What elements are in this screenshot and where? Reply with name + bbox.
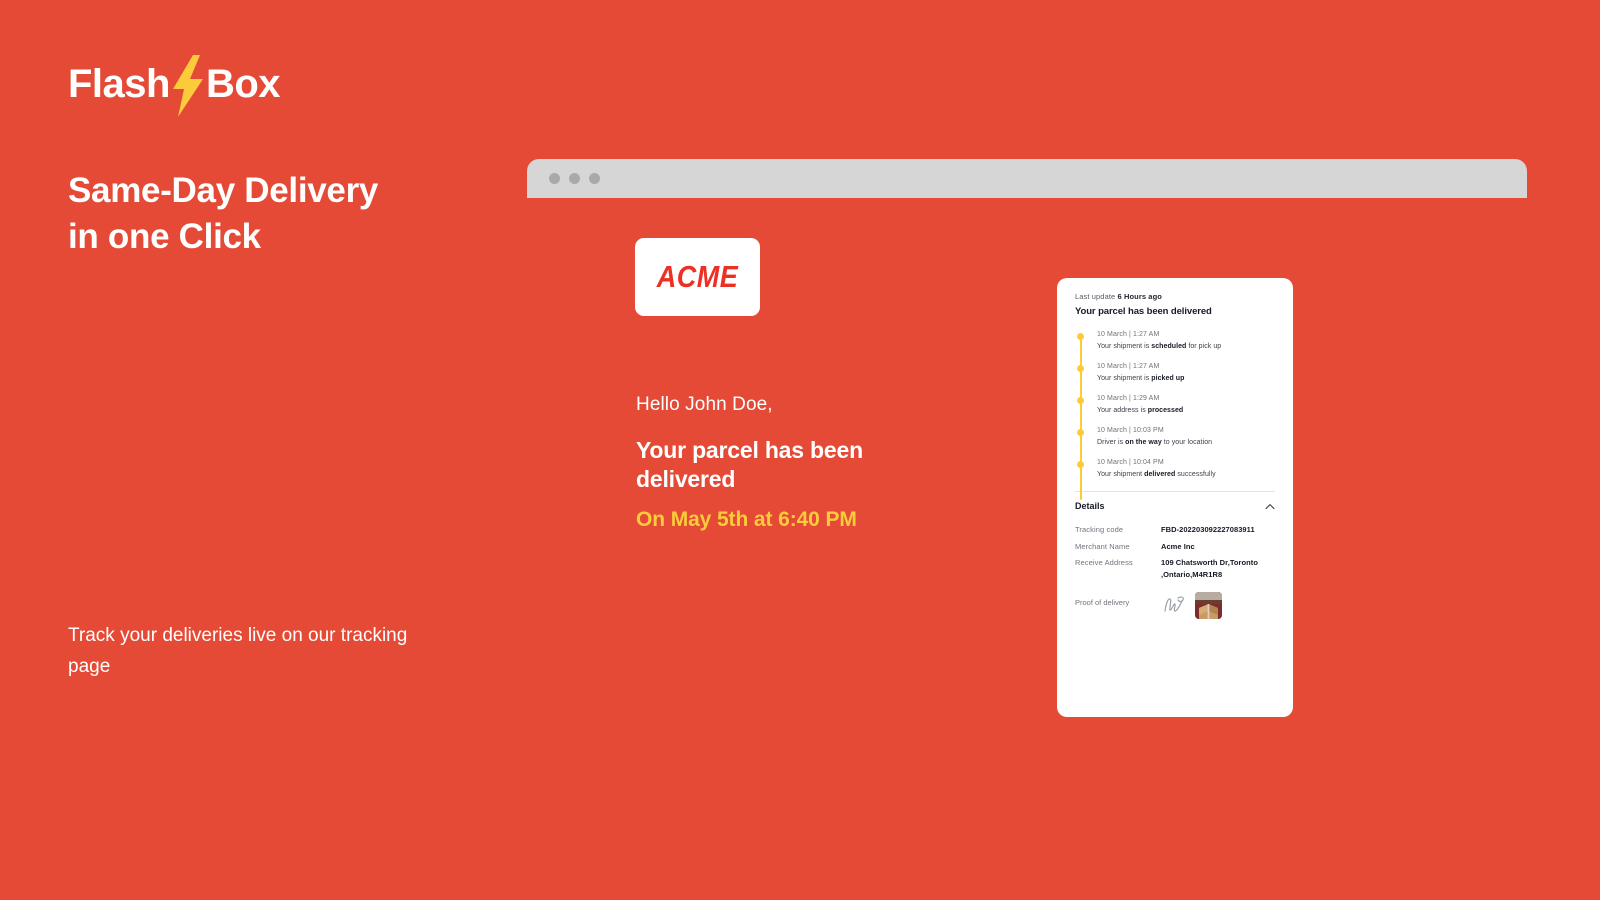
- timeline-dot-icon: [1077, 365, 1084, 372]
- parcel-photo-thumbnail[interactable]: [1195, 592, 1222, 619]
- timeline-desc-bold: scheduled: [1151, 343, 1186, 350]
- timeline-item-description: Your address is processed: [1097, 406, 1275, 417]
- timeline-item-time: 10 March | 10:04 PM: [1097, 459, 1275, 466]
- detail-row: Tracking code FBD-202203092227083911: [1075, 524, 1275, 536]
- signature-icon[interactable]: [1161, 592, 1187, 618]
- timeline-desc-before: Your address is: [1097, 407, 1148, 414]
- window-maximize-dot-icon[interactable]: [589, 173, 600, 184]
- timeline-desc-before: Driver is: [1097, 439, 1125, 446]
- email-delivery-time: On May 5th at 6:40 PM: [636, 508, 966, 532]
- timeline-item: 10 March | 1:29 AM Your address is proce…: [1097, 395, 1275, 416]
- tracking-card-title: Your parcel has been delivered: [1075, 306, 1275, 317]
- last-update-line: Last update 6 Hours ago: [1075, 292, 1275, 301]
- detail-value-tracking-code: FBD-202203092227083911: [1161, 524, 1255, 536]
- browser-titlebar: [527, 159, 1527, 198]
- timeline-desc-before: Your shipment is: [1097, 375, 1151, 382]
- email-headline: Your parcel has been delivered: [636, 436, 966, 494]
- detail-label: Tracking code: [1075, 524, 1161, 536]
- detail-row: Merchant Name Acme Inc: [1075, 541, 1275, 553]
- timeline-item: 10 March | 1:27 AM Your shipment is pick…: [1097, 363, 1275, 384]
- timeline-item-time: 10 March | 1:27 AM: [1097, 331, 1275, 338]
- brand-logo-text-flash: Flash: [68, 64, 170, 104]
- merchant-logo-card: ACME: [635, 238, 760, 316]
- timeline-desc-after: to your location: [1162, 439, 1212, 446]
- timeline-item-time: 10 March | 10:03 PM: [1097, 427, 1275, 434]
- timeline-item-time: 10 March | 1:27 AM: [1097, 363, 1275, 370]
- timeline-item-description: Your shipment is picked up: [1097, 374, 1275, 385]
- hero-subtext: Track your deliveries live on our tracki…: [68, 620, 448, 683]
- detail-value-merchant-name: Acme Inc: [1161, 541, 1195, 553]
- timeline-desc-before: Your shipment is: [1097, 343, 1151, 350]
- detail-label: Merchant Name: [1075, 541, 1161, 553]
- proof-of-delivery-row: Proof of delivery: [1075, 592, 1275, 619]
- timeline-item-description: Driver is on the way to your location: [1097, 438, 1275, 449]
- timeline-item-time: 10 March | 1:29 AM: [1097, 395, 1275, 402]
- timeline-dot-icon: [1077, 397, 1084, 404]
- lightning-bolt-icon: [171, 55, 205, 117]
- brand-logo-text-box: Box: [206, 64, 280, 104]
- page-title: Same-Day Delivery in one Click: [68, 168, 498, 259]
- brand-logo[interactable]: Flash Box: [68, 56, 280, 112]
- timeline-desc-bold: picked up: [1151, 375, 1184, 382]
- email-message-block: Hello John Doe, Your parcel has been del…: [636, 394, 966, 532]
- timeline-desc-bold: delivered: [1144, 471, 1175, 478]
- timeline-rail: [1080, 336, 1082, 500]
- tracking-status-card: Last update 6 Hours ago Your parcel has …: [1057, 278, 1293, 717]
- timeline-item: 10 March | 1:27 AM Your shipment is sche…: [1097, 331, 1275, 352]
- timeline-desc-after: for pick up: [1186, 343, 1221, 350]
- detail-value-receive-address: 109 Chatsworth Dr,Toronto ,Ontario,M4R1R…: [1161, 557, 1275, 580]
- timeline-dot-icon: [1077, 461, 1084, 468]
- shipment-timeline: 10 March | 1:27 AM Your shipment is sche…: [1075, 331, 1275, 480]
- email-greeting: Hello John Doe,: [636, 394, 966, 416]
- browser-window-mockup: ACME Hello John Doe, Your parcel has bee…: [527, 159, 1527, 721]
- acme-logo-text: ACME: [657, 260, 739, 295]
- timeline-item-description: Your shipment is scheduled for pick up: [1097, 342, 1275, 353]
- proof-of-delivery-label: Proof of delivery: [1075, 592, 1161, 607]
- headline-line-1: Same-Day Delivery: [68, 168, 498, 214]
- proof-of-delivery-media: [1161, 592, 1222, 619]
- details-divider: [1075, 491, 1275, 492]
- last-update-value: 6 Hours ago: [1117, 292, 1161, 301]
- details-section-header[interactable]: Details: [1075, 501, 1275, 511]
- headline-line-2: in one Click: [68, 214, 498, 260]
- hero-left-panel: Flash Box Same-Day Delivery in one Click…: [0, 0, 520, 900]
- detail-label: Receive Address: [1075, 557, 1161, 569]
- chevron-up-icon[interactable]: [1265, 503, 1275, 510]
- timeline-desc-bold: on the way: [1125, 439, 1162, 446]
- window-close-dot-icon[interactable]: [549, 173, 560, 184]
- timeline-desc-before: Your shipment: [1097, 471, 1144, 478]
- timeline-desc-after: successfully: [1175, 471, 1215, 478]
- timeline-dot-icon: [1077, 429, 1084, 436]
- detail-row: Receive Address 109 Chatsworth Dr,Toront…: [1075, 557, 1275, 580]
- window-minimize-dot-icon[interactable]: [569, 173, 580, 184]
- browser-content-area: ACME Hello John Doe, Your parcel has bee…: [527, 198, 1527, 721]
- timeline-item: 10 March | 10:03 PM Driver is on the way…: [1097, 427, 1275, 448]
- timeline-desc-bold: processed: [1148, 407, 1183, 414]
- timeline-dot-icon: [1077, 333, 1084, 340]
- details-title: Details: [1075, 501, 1105, 511]
- timeline-item: 10 March | 10:04 PM Your shipment delive…: [1097, 459, 1275, 480]
- timeline-item-description: Your shipment delivered successfully: [1097, 470, 1275, 481]
- last-update-prefix: Last update: [1075, 292, 1117, 301]
